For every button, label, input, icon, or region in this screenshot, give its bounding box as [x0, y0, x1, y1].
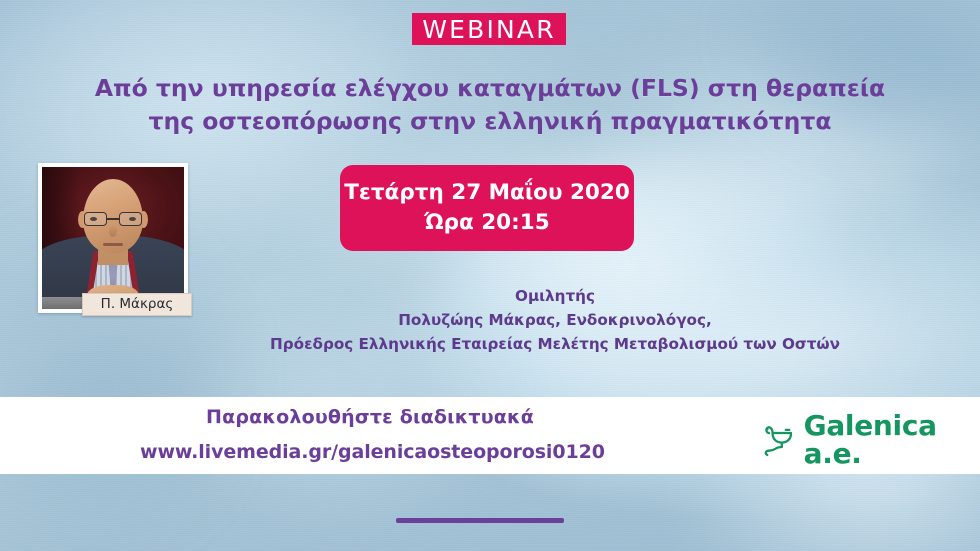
footer-text-block: Παρακολουθήστε διαδικτυακά www.livemedia…: [140, 405, 600, 464]
speaker-name-plate-label: Π. Μάκρας: [101, 298, 174, 312]
sponsor-logo: Galenica a.e.: [762, 412, 980, 468]
event-date: Τετάρτη 27 Μαΐου 2020: [344, 179, 630, 207]
webinar-badge: WEBINAR: [412, 13, 566, 45]
event-time: Ώρα 20:15: [424, 209, 549, 237]
webinar-url[interactable]: www.livemedia.gr/galenicaosteoporosi0120: [140, 440, 600, 465]
page-title-line-2: της οστεοπόρωσης στην ελληνική πραγματικ…: [90, 105, 890, 138]
page-title: Από την υπηρεσία ελέγχου καταγμάτων (FLS…: [0, 72, 980, 139]
speaker-info: Ομιλητής Πολυζώης Μάκρας, Ενδοκρινολόγος…: [170, 284, 940, 356]
speaker-photo-image: [42, 167, 184, 309]
date-time-box: Τετάρτη 27 Μαΐου 2020 Ώρα 20:15: [340, 165, 634, 251]
webinar-badge-label: WEBINAR: [422, 17, 556, 42]
speaker-name: Πολυζώης Μάκρας, Ενδοκρινολόγος,: [170, 308, 940, 332]
speaker-photo: [38, 163, 188, 313]
speaker-affiliation: Πρόεδρος Ελληνικής Εταιρείας Μελέτης Μετ…: [170, 332, 940, 356]
webinar-poster: WEBINAR Από την υπηρεσία ελέγχου καταγμά…: [0, 0, 980, 551]
bowl-of-hygieia-icon: [762, 421, 794, 459]
page-title-line-1: Από την υπηρεσία ελέγχου καταγμάτων (FLS…: [90, 72, 890, 105]
bottom-divider: [396, 518, 564, 523]
photo-eyeglasses: [84, 212, 142, 227]
speaker-role-label: Ομιλητής: [170, 284, 940, 308]
sponsor-name: Galenica a.e.: [804, 412, 980, 468]
watch-online-label: Παρακολουθήστε διαδικτυακά: [140, 405, 600, 430]
